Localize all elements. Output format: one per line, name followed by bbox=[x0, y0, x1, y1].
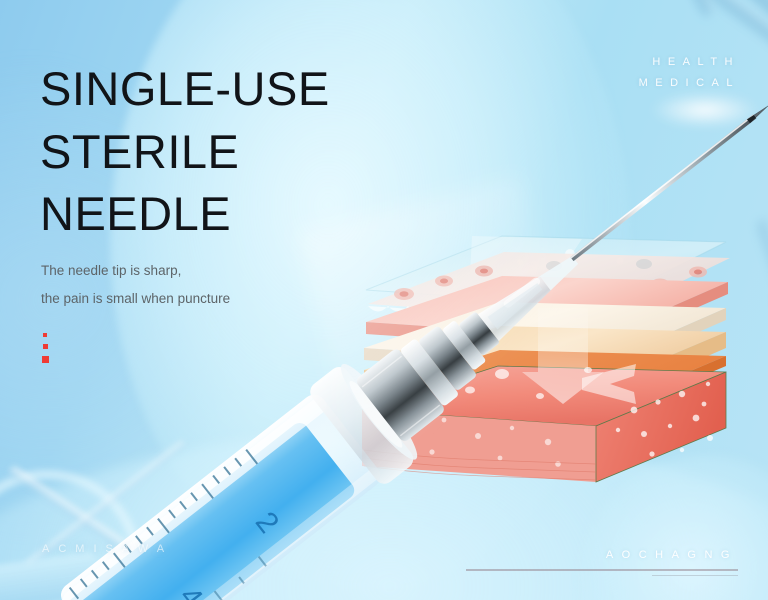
subtitle-line-1: The needle tip is sharp, bbox=[41, 257, 381, 285]
square-dot-icon-large bbox=[42, 356, 49, 363]
page-title: SINGLE-USE STERILE NEEDLE bbox=[40, 58, 440, 246]
brand-medical-label: MEDICAL bbox=[639, 73, 740, 94]
brand-health-label: HEALTH bbox=[639, 52, 740, 73]
brand-bottom-right: AOCHAGNG bbox=[466, 549, 738, 576]
watermark-label: ACMISAWA bbox=[42, 543, 173, 555]
subtitle-block: The needle tip is sharp, the pain is sma… bbox=[41, 257, 381, 312]
square-dot-icon-medium bbox=[43, 344, 48, 349]
background-blurred-syringe-3 bbox=[634, 0, 716, 18]
brand-top-right: HEALTH MEDICAL bbox=[639, 52, 740, 95]
brand-name-label: AOCHAGNG bbox=[466, 549, 738, 561]
accent-dots bbox=[42, 333, 49, 363]
brand-rule-long bbox=[466, 569, 738, 571]
brand-rule-short bbox=[652, 575, 738, 577]
poster-canvas: 2 4 bbox=[0, 0, 768, 600]
subtitle-line-2: the pain is small when puncture bbox=[41, 285, 381, 313]
square-dot-icon-small bbox=[43, 333, 47, 337]
background-blurred-syringe-4 bbox=[755, 216, 768, 400]
